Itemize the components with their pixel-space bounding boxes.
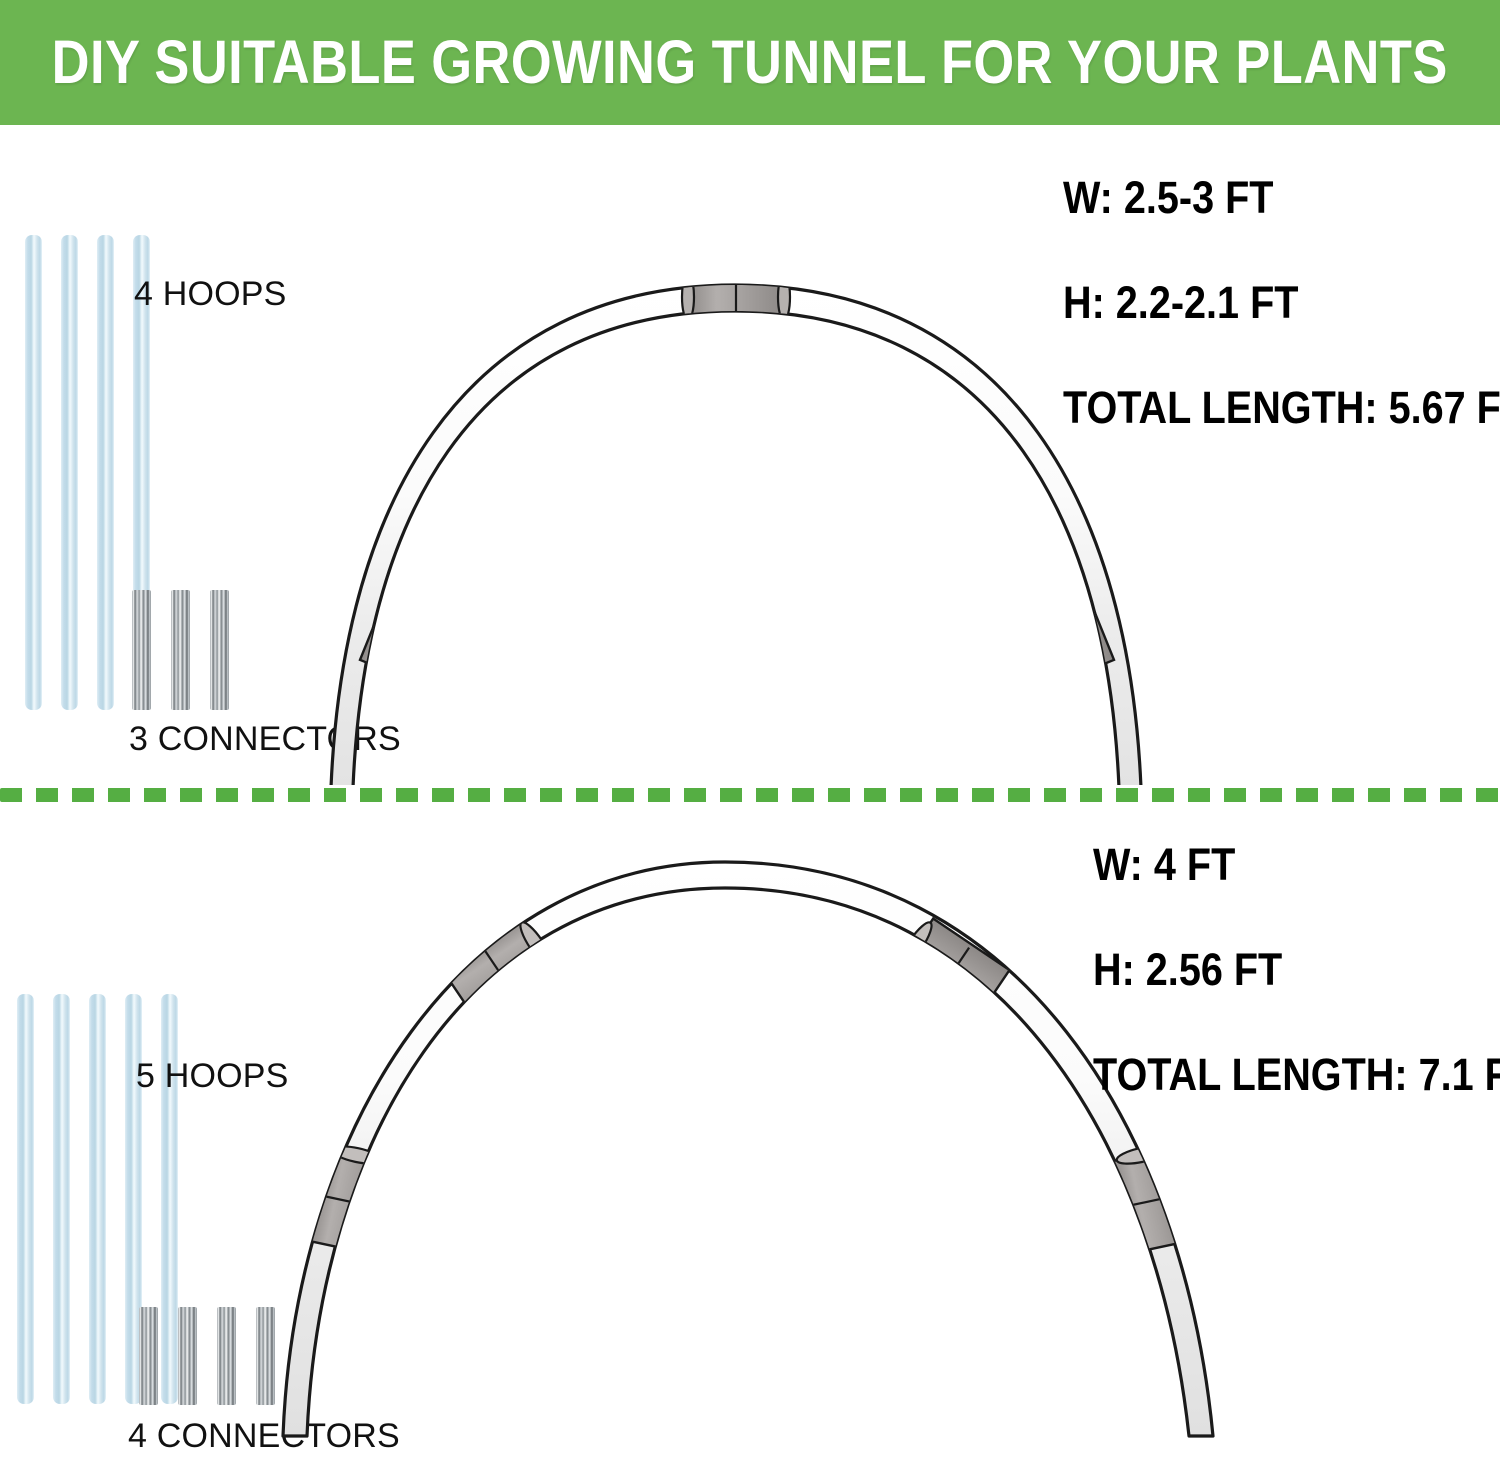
spec-total-length-bottom: TOTAL LENGTH: 7.1 FT <box>1093 1052 1500 1097</box>
connector-part <box>210 590 229 710</box>
hoop-joint-lower-left-bottom <box>308 1143 386 1253</box>
hoops-count-label-top: 4 HOOPS <box>134 275 287 314</box>
spec-height-top: H: 2.2-2.1 FT <box>1063 280 1500 325</box>
connector-part <box>171 590 190 710</box>
section-divider <box>0 788 1500 802</box>
header-banner: DIY SUITABLE GROWING TUNNEL FOR YOUR PLA… <box>0 0 1500 125</box>
hoop-rod <box>61 235 78 710</box>
hoop-rod <box>97 235 114 710</box>
spec-total-length-top: TOTAL LENGTH: 5.67 FT <box>1063 385 1500 430</box>
spec-height-bottom: H: 2.56 FT <box>1093 947 1500 992</box>
connector-part <box>217 1307 236 1405</box>
hoop-joint-lower-right-bottom <box>1112 1143 1190 1253</box>
hoop-tube-bottom <box>283 862 1213 1436</box>
tunnel-hoop-diagram-top <box>290 165 1190 785</box>
spec-list-top: W: 2.5-3 FT H: 2.2-2.1 FT TOTAL LENGTH: … <box>1063 175 1500 430</box>
hoop-rod <box>17 994 34 1404</box>
connector-part <box>132 590 151 710</box>
infographic-page: DIY SUITABLE GROWING TUNNEL FOR YOUR PLA… <box>0 0 1500 1466</box>
hoop-rod <box>53 994 70 1404</box>
spec-width-top: W: 2.5-3 FT <box>1063 175 1500 220</box>
hoop-rod <box>25 235 42 710</box>
section-large-tunnel: 5 HOOPS 4 CONNECTORS <box>0 802 1500 1466</box>
hoop-rod <box>89 994 106 1404</box>
spec-list-bottom: W: 4 FT H: 2.56 FT TOTAL LENGTH: 7.1 FT <box>1093 842 1500 1097</box>
spec-width-bottom: W: 4 FT <box>1093 842 1500 887</box>
connector-part <box>178 1307 197 1405</box>
connector-parts-top <box>132 590 229 710</box>
hoop-tube-top <box>330 285 1142 785</box>
connector-part <box>139 1307 158 1405</box>
section-small-tunnel: 4 HOOPS 3 CONNECTORS <box>0 125 1500 788</box>
page-title: DIY SUITABLE GROWING TUNNEL FOR YOUR PLA… <box>52 32 1448 93</box>
